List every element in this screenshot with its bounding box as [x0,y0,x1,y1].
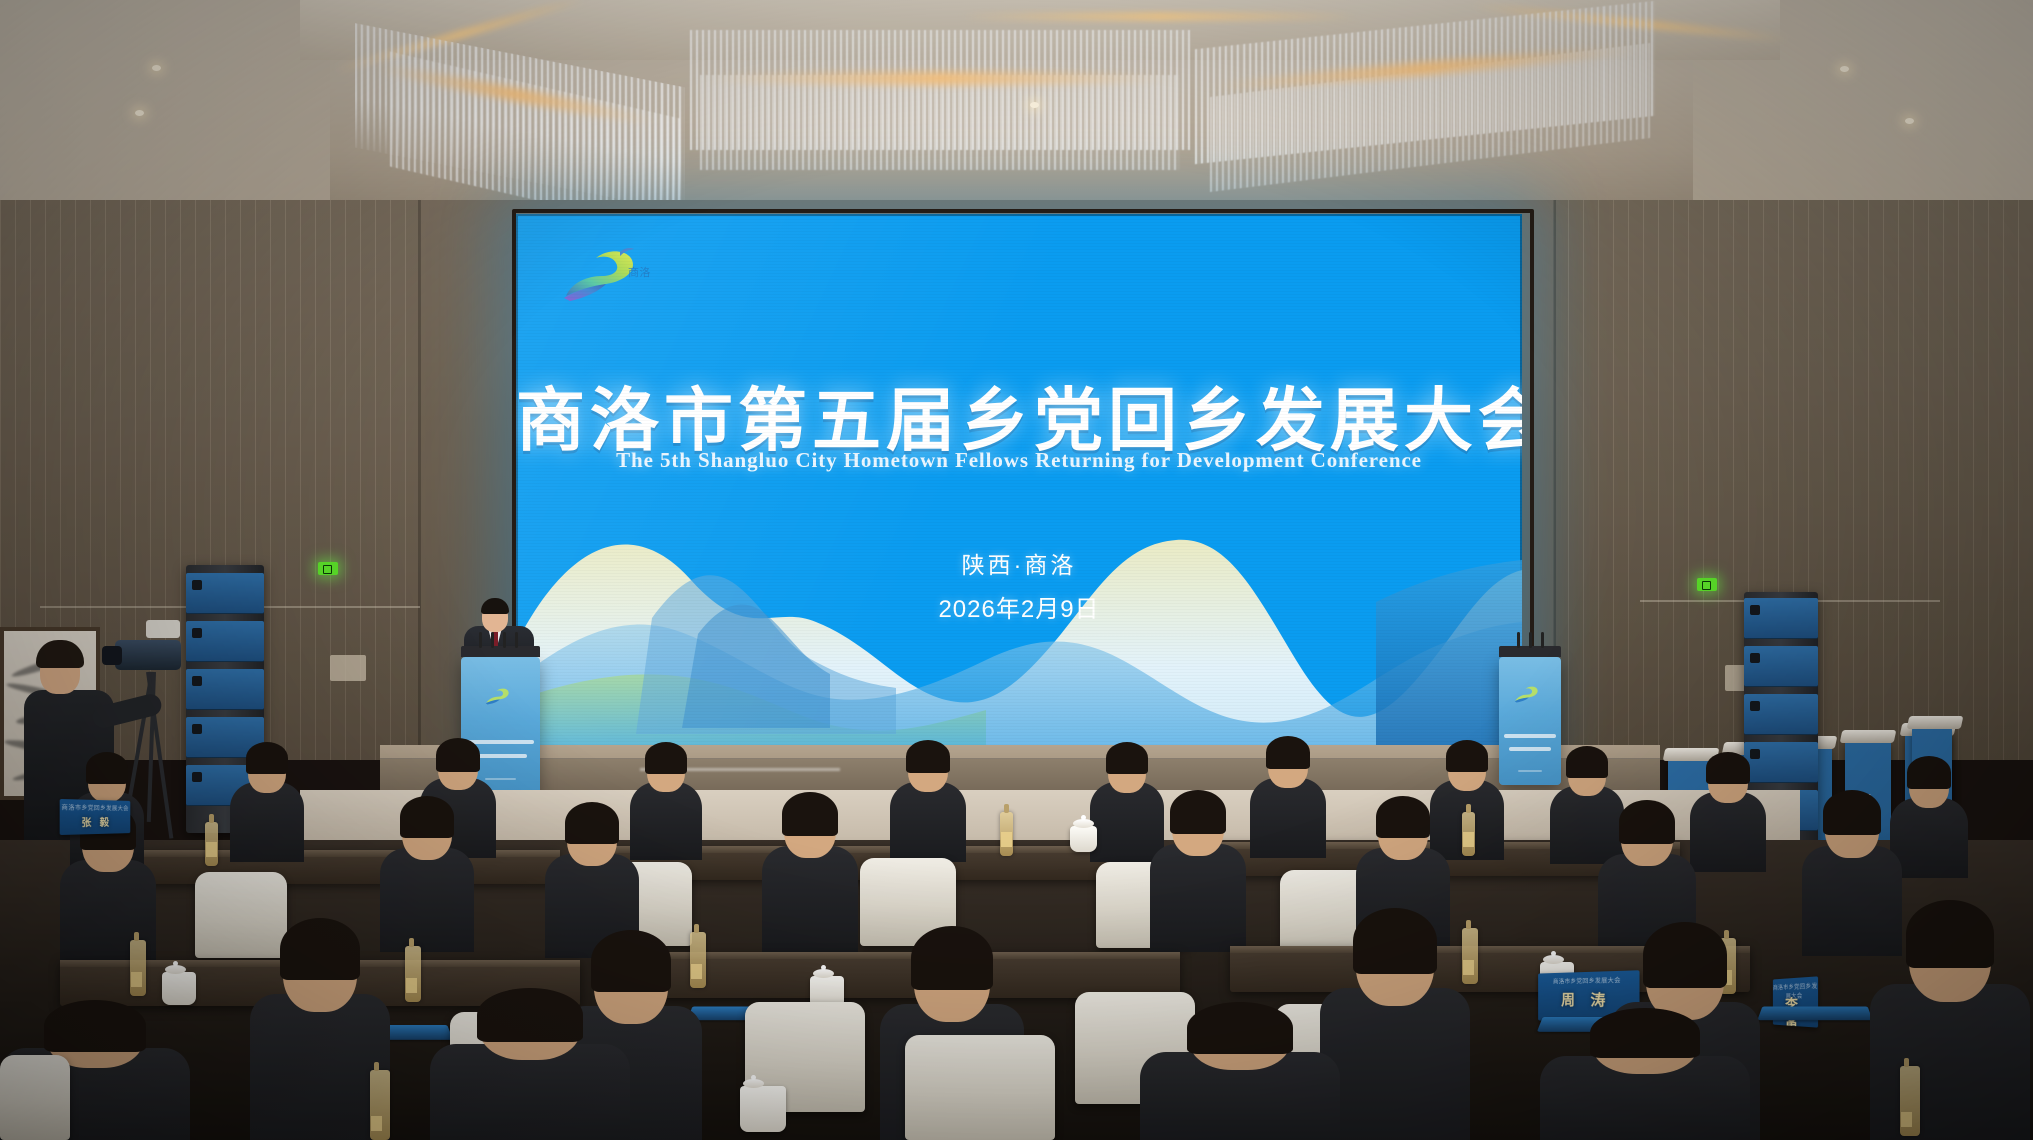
conference-tablet [1757,1006,1872,1020]
audience-member [380,796,474,946]
microphone [491,632,494,648]
bottle-label [131,972,142,987]
nameplate-name: 张 毅 [60,813,131,829]
audience-hair [591,930,671,992]
lidded-teacup [1070,826,1097,852]
audience-hair [1906,900,1994,968]
audience-member-foreground [1540,1008,1750,1140]
audience-member [230,742,304,860]
audience-hair [1353,908,1437,974]
bottle-label [1901,1112,1912,1127]
water-bottle [1000,812,1013,856]
banner-header [1907,716,1964,729]
microphone [515,632,518,648]
video-camera-body [115,640,181,670]
audience-body [1320,988,1470,1140]
ceiling-downlight [1905,118,1914,124]
audience-member-foreground [1140,1002,1340,1140]
water-bottle [1462,812,1475,856]
blue-line-array-speaker [186,621,264,662]
audience-member [250,918,390,1140]
audience-member [1690,752,1766,870]
crystal-rod-chandelier [700,75,1180,170]
speaker-port [192,676,202,686]
audience-body [1250,778,1326,858]
audience-hair [782,792,838,836]
microphone [1517,632,1520,648]
speaker-port [192,772,202,782]
podium-title-line-2 [1509,747,1551,751]
audience-hair [246,742,288,774]
podium-title-line-1 [1504,734,1556,738]
bottle-label [406,978,417,993]
screen-subtitle-en: The 5th Shangluo City Hometown Fellows R… [516,448,1522,473]
blue-line-array-speaker [1744,694,1818,735]
shangluo-swoosh-logo [558,246,678,302]
banner-header [1840,730,1897,743]
audience-hair [1590,1008,1700,1058]
audience-hair [1619,800,1675,844]
ceiling-panel-left [0,0,330,200]
audience-hair [86,752,128,784]
audience-hair [645,742,687,774]
audience-hair [906,740,950,773]
podium-logo [484,687,518,705]
audience-chair [905,1035,1055,1140]
table-nameplate: 商洛市乡党回乡发展大会 张 毅 [60,799,131,835]
speaker-port [1750,701,1760,711]
audience-chair [0,1055,70,1140]
nameplate-org: 商洛市乡党回乡发展大会 [60,802,131,812]
ceiling-downlight [1840,66,1849,72]
ceiling-downlight [152,65,161,71]
ceiling-downlight [135,110,144,116]
bottle-label [1001,832,1012,847]
microphone [1529,632,1532,648]
podium-logo [1513,685,1547,703]
water-bottle [1900,1066,1920,1136]
audience-hair [280,918,360,980]
chandelier-warm-glow [700,72,1180,85]
audience-body [250,994,390,1140]
audience-body [630,782,702,860]
audience-hair [477,988,583,1042]
water-bottle [130,940,146,996]
audience-hair [565,802,619,844]
audience-member [890,740,966,860]
water-bottle [405,946,421,1002]
audience-member [1320,908,1470,1140]
led-backdrop-screen: 商洛 商洛市第五届乡党回乡发展大会 The 5th Shangluo City … [516,214,1522,754]
wall-plate-left [330,655,366,681]
microphone [503,632,506,648]
bottle-label [1463,832,1474,847]
audience-body [762,846,858,952]
water-bottle [370,1070,390,1140]
emergency-exit-sign [1697,578,1717,591]
water-bottle [205,822,218,866]
podium-footer-line [1518,770,1543,772]
cove-light-center [960,12,1360,21]
audience-hair [436,738,480,772]
speaker-port [192,580,202,590]
wall-seam [418,200,421,760]
conference-hall-photo: 商洛 商洛市第五届乡党回乡发展大会 The 5th Shangluo City … [0,0,2033,1140]
camera-lens [102,646,122,665]
screen-date: 2026年2月9日 [516,589,1522,624]
blue-line-array-speaker [1744,646,1818,687]
microphone [1541,632,1544,648]
bottle-label [206,842,217,857]
audience-member [762,792,858,946]
audience-hair [1706,752,1750,784]
camera-viewfinder-hood [146,620,180,638]
microphone [479,632,482,648]
screen-logo-caption: 商洛 [628,264,651,280]
audience-hair [1170,790,1226,834]
audience-body [890,782,966,862]
emergency-exit-sign [318,562,338,575]
audience-hair [1446,740,1488,772]
ceiling-downlight [1030,102,1039,108]
audience-body [1150,844,1246,952]
lidded-teacup [740,1086,786,1132]
audience-hair [1907,756,1951,789]
blue-line-array-speaker [186,669,264,710]
audience-member [1250,736,1326,856]
audience-body [1870,984,2030,1140]
audience-hair [1376,796,1430,838]
blue-line-array-speaker [186,573,264,614]
audience-hair [1566,746,1608,778]
speaker-port [192,628,202,638]
audience-body [380,848,474,952]
audience-member [1870,900,2030,1140]
audience-member [1150,790,1246,946]
audience-hair [1266,736,1310,769]
audience-hair [1643,922,1727,988]
audience-hair [44,1000,146,1052]
audience-hair [911,926,993,990]
bottle-label [371,1116,382,1131]
audience-hair [1187,1002,1293,1054]
screen-place: 陕西·商洛 [516,546,1522,580]
audience-member-foreground [430,988,630,1140]
speaker-port [192,724,202,734]
audience-member [630,742,702,858]
podium-top-edge [461,646,540,657]
audience-hair [400,796,454,838]
speaker-port [1750,605,1760,615]
audience-body [1690,792,1766,872]
speaker-port [1750,653,1760,663]
audience-hair [1106,742,1148,774]
audience-body [230,782,304,862]
audience-hair [1823,790,1881,835]
blue-line-array-speaker [1744,598,1818,639]
